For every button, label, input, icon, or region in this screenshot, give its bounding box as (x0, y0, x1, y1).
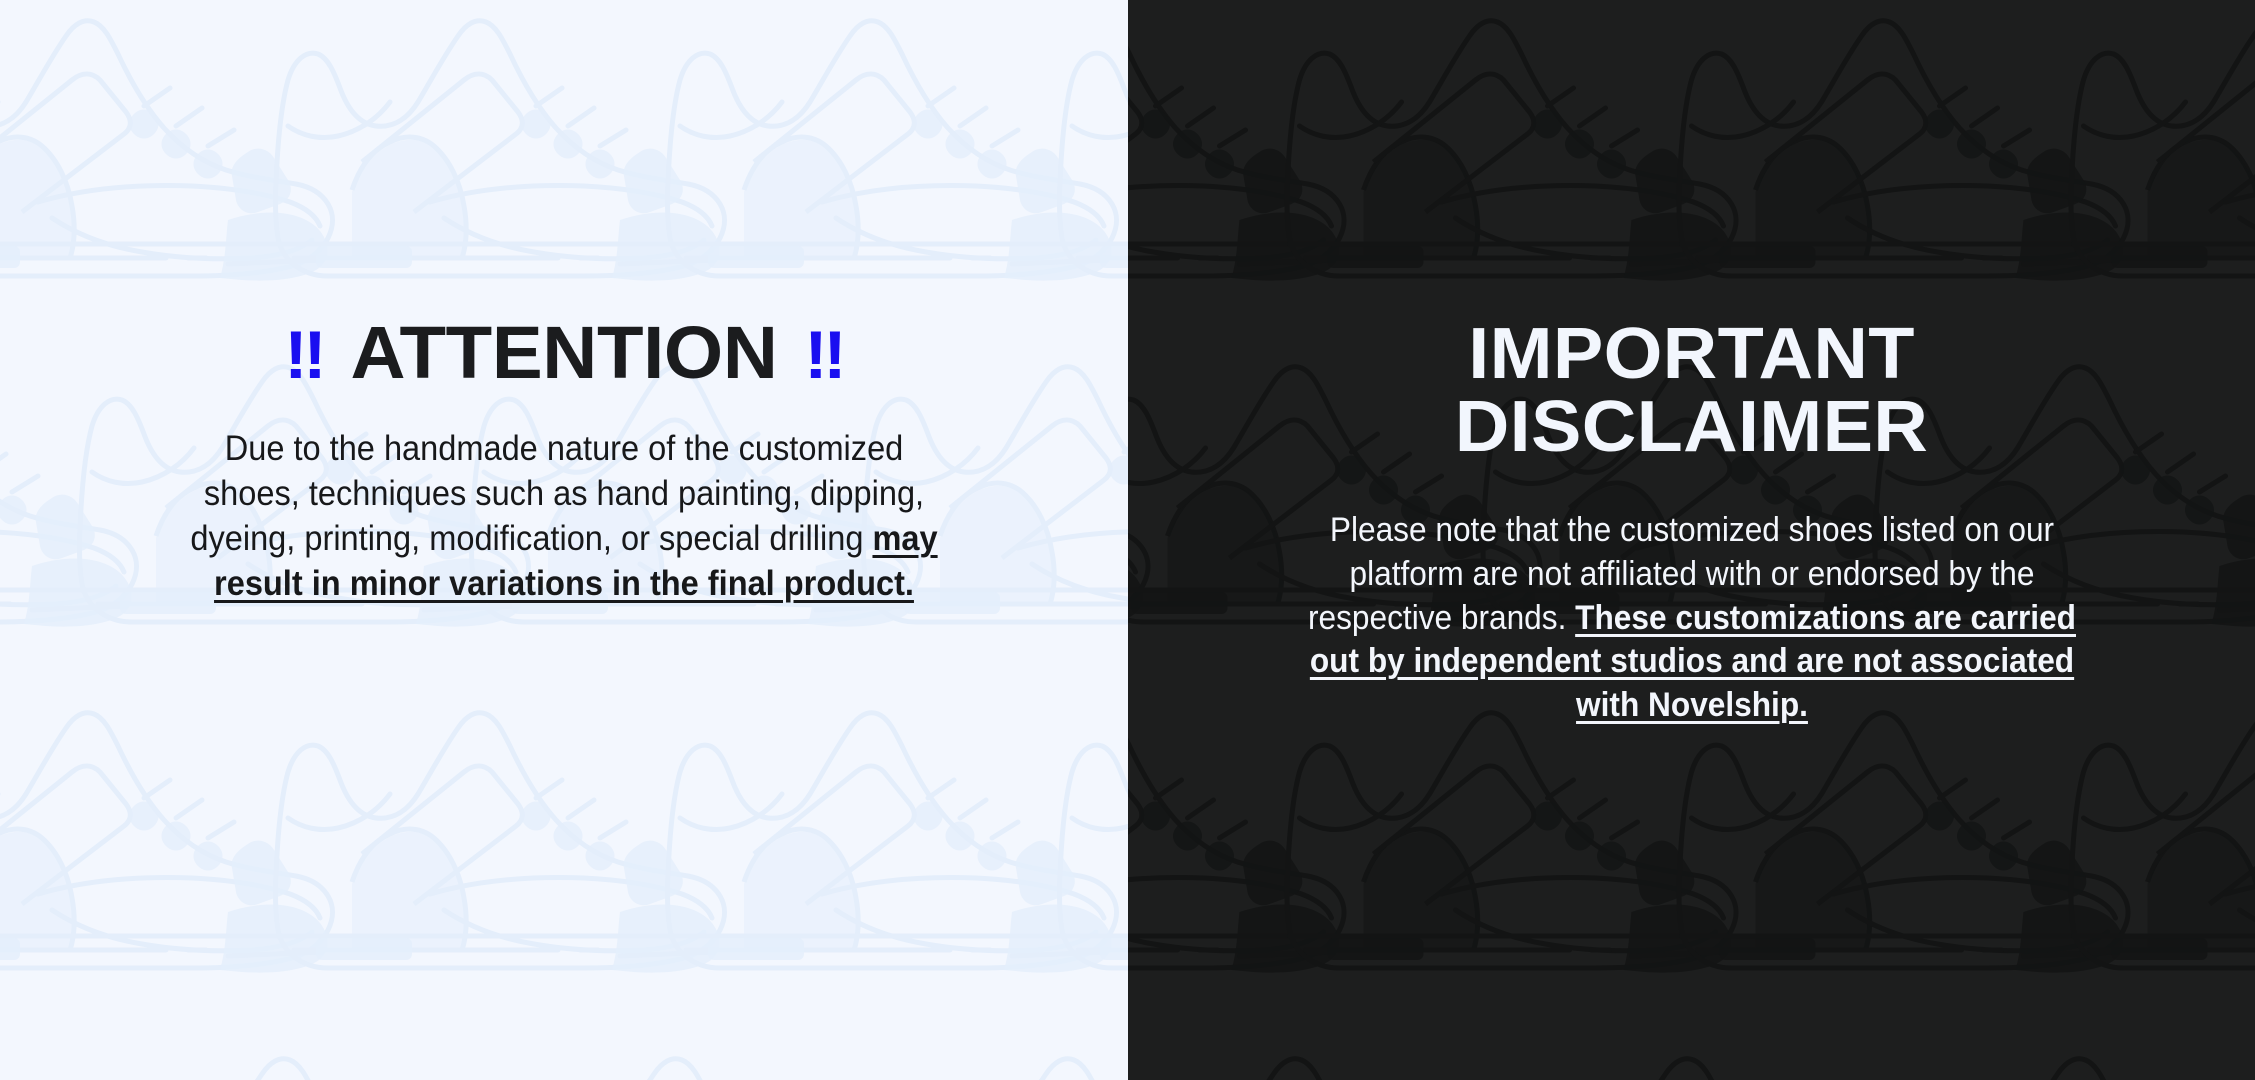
attention-panel: ‼ ATTENTION ‼ Due to the handmade nature… (0, 0, 1128, 1080)
disclaimer-content: IMPORTANT DISCLAIMER Please note that th… (1128, 318, 2255, 728)
disclaimer-heading: IMPORTANT DISCLAIMER (1128, 318, 2255, 465)
attention-heading: ‼ ATTENTION ‼ (0, 316, 1128, 390)
disclaimer-panel: IMPORTANT DISCLAIMER Please note that th… (1128, 0, 2255, 1080)
attention-body-plain: Due to the handmade nature of the custom… (190, 429, 924, 558)
attention-heading-text: ATTENTION (350, 316, 777, 390)
double-exclamation-right-icon: ‼ (804, 321, 844, 389)
disclaimer-body: Please note that the customized shoes li… (1303, 509, 2080, 728)
attention-content: ‼ ATTENTION ‼ Due to the handmade nature… (0, 316, 1128, 607)
customization-notice-banner: ‼ ATTENTION ‼ Due to the handmade nature… (0, 0, 2255, 1080)
double-exclamation-left-icon: ‼ (284, 321, 324, 389)
attention-body: Due to the handmade nature of the custom… (178, 426, 950, 607)
